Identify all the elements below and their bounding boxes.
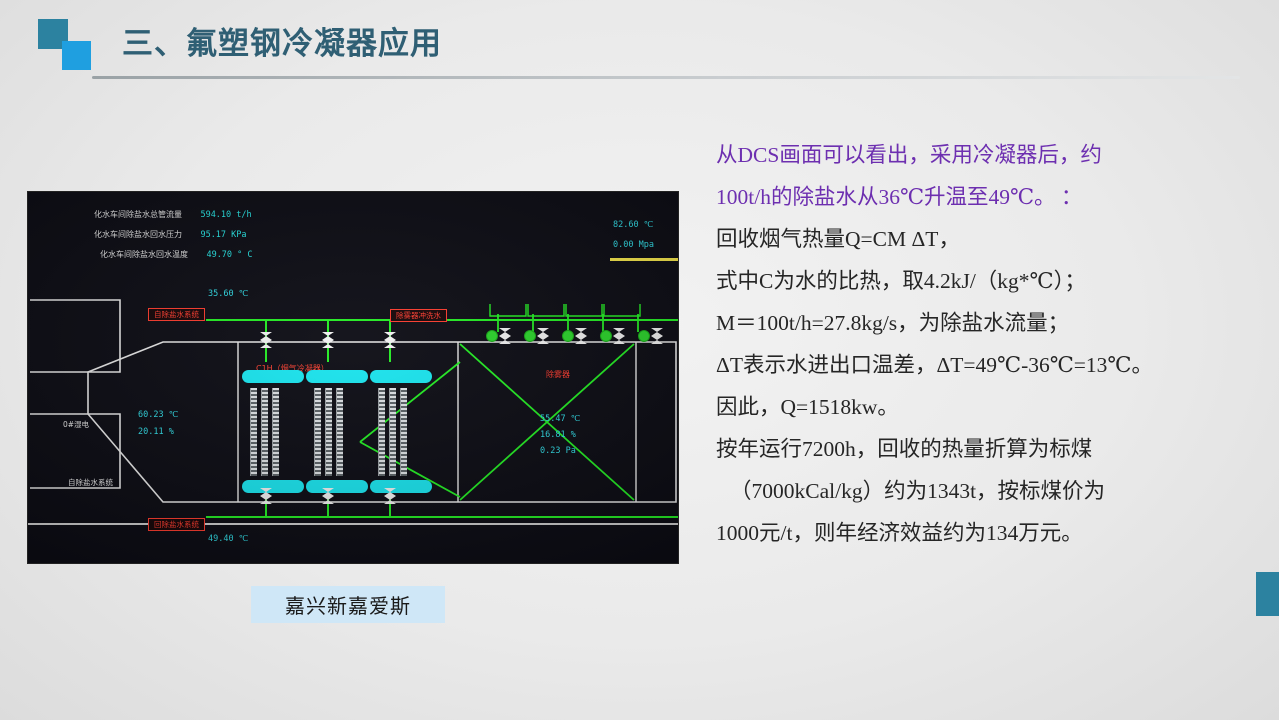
valve-icon bbox=[613, 328, 625, 344]
tube-cap-top-1 bbox=[242, 370, 304, 383]
decoration-square-light bbox=[62, 41, 91, 70]
dcs-readout-value-1: 594.10 t/h bbox=[200, 210, 251, 220]
dcs-screen-photo: 化水车间除盐水总管流量 594.10 t/h 化水车间除盐水回水压力 95.17… bbox=[28, 192, 678, 563]
dcs-readout-label-1: 化水车间除盐水总管流量 bbox=[94, 210, 182, 219]
valve-assembly-5 bbox=[638, 328, 664, 344]
dcs-top-right-value-1: 82.60 ℃ bbox=[613, 220, 653, 230]
photo-caption-box: 嘉兴新嘉爱斯 bbox=[251, 586, 445, 623]
dcs-readout-label-2: 化水车间除盐水回水压力 bbox=[94, 230, 182, 239]
tube-cap-top-2 bbox=[306, 370, 368, 383]
dcs-tag-inlet-label: 自除盐水系统 bbox=[148, 308, 205, 321]
valve-icon-drop-3 bbox=[384, 332, 396, 348]
dcs-readout-label-3: 化水车间除盐水回水温度 bbox=[100, 250, 188, 259]
tube-bank-2 bbox=[314, 388, 360, 476]
dcs-right-value-1: 55.47 ℃ bbox=[540, 414, 580, 424]
valve-indicator-icon bbox=[486, 330, 498, 342]
dcs-tag-inlet: 自除盐水系统 bbox=[148, 304, 205, 322]
dcs-tag-demister-wash-label: 除雾器冲洗水 bbox=[390, 309, 447, 322]
body-line-7: 因此，Q=1518kw。 bbox=[716, 386, 1264, 428]
valve-icon-drop-4 bbox=[260, 488, 272, 504]
dcs-readout-row-2: 化水车间除盐水回水压力 95.17 KPa bbox=[94, 224, 247, 242]
dcs-tag-demister-label: 除雾器 bbox=[546, 370, 570, 379]
dcs-readout-row-3: 化水车间除盐水回水温度 49.70 ° C bbox=[100, 244, 253, 262]
tube-column bbox=[261, 388, 268, 476]
body-line-8: 按年运行7200h，回收的热量折算为标煤 bbox=[716, 428, 1264, 470]
dcs-tag-outlet: 回除盐水系统 bbox=[148, 514, 205, 532]
dcs-top-right-value-2: 0.00 Mpa bbox=[613, 240, 654, 250]
dcs-right-value-2: 16.81 % bbox=[540, 430, 576, 440]
valve-assembly-3 bbox=[562, 328, 588, 344]
dcs-yellow-bar bbox=[610, 258, 678, 261]
tube-column bbox=[314, 388, 321, 476]
body-text-block: 从DCS画面可以看出，采用冷凝器后，约 100t/h的除盐水从36℃升温至49℃… bbox=[716, 134, 1264, 554]
body-line-9: （7000kCal/kg）约为1343t，按标煤价为 bbox=[716, 470, 1264, 512]
dcs-readout-row-1: 化水车间除盐水总管流量 594.10 t/h bbox=[94, 204, 252, 222]
dcs-duct-label-left-1: 0#湿电 bbox=[63, 419, 89, 430]
dcs-left-value-1: 60.23 ℃ bbox=[138, 410, 178, 420]
dcs-tag-outlet-label: 回除盐水系统 bbox=[148, 518, 205, 531]
dcs-inlet-temp: 35.60 ℃ bbox=[208, 289, 248, 299]
valve-icon-drop-5 bbox=[322, 488, 334, 504]
valve-indicator-icon bbox=[600, 330, 612, 342]
valve-icon bbox=[537, 328, 549, 344]
dcs-right-value-3: 0.23 Pa bbox=[540, 446, 576, 456]
dcs-readout-value-3: 49.70 ° C bbox=[206, 250, 252, 260]
tube-column bbox=[250, 388, 257, 476]
tube-column bbox=[336, 388, 343, 476]
valve-icon-drop-1 bbox=[260, 332, 272, 348]
valve-icon bbox=[651, 328, 663, 344]
valve-assembly-1 bbox=[486, 328, 512, 344]
tube-bank-3 bbox=[378, 388, 424, 476]
dcs-outlet-temp: 49.40 ℃ bbox=[208, 534, 248, 544]
right-accent-bar bbox=[1256, 572, 1279, 616]
tube-cap-bottom-3 bbox=[370, 480, 432, 493]
tube-column bbox=[378, 388, 385, 476]
valve-assembly-4 bbox=[600, 328, 626, 344]
body-line-4: 式中C为水的比热，取4.2kJ/（kg*℃）； bbox=[716, 260, 1264, 302]
body-line-6: ΔT表示水进出口温差，ΔT=49℃-36℃=13℃。 bbox=[716, 344, 1264, 386]
tube-column bbox=[389, 388, 396, 476]
valve-icon-drop-6 bbox=[384, 488, 396, 504]
dcs-tag-demister-wash: 除雾器冲洗水 bbox=[390, 305, 447, 323]
tube-cap-top-3 bbox=[370, 370, 432, 383]
header-divider bbox=[92, 76, 1240, 79]
photo-caption-text: 嘉兴新嘉爱斯 bbox=[285, 590, 411, 619]
dcs-readout-value-2: 95.17 KPa bbox=[200, 230, 246, 240]
valve-icon bbox=[499, 328, 511, 344]
body-line-3: 回收烟气热量Q=CM ΔT， bbox=[716, 218, 1264, 260]
body-line-1: 从DCS画面可以看出，采用冷凝器后，约 bbox=[716, 134, 1264, 176]
tube-column bbox=[272, 388, 279, 476]
valve-icon bbox=[575, 328, 587, 344]
dcs-tag-demister: 除雾器 bbox=[546, 364, 570, 382]
tube-column bbox=[400, 388, 407, 476]
body-line-10: 1000元/t，则年经济效益约为134万元。 bbox=[716, 512, 1264, 554]
slide-header: 三、氟塑钢冷凝器应用 bbox=[0, 0, 1279, 92]
valve-indicator-icon bbox=[638, 330, 650, 342]
valve-indicator-icon bbox=[524, 330, 536, 342]
valve-icon-drop-2 bbox=[322, 332, 334, 348]
dcs-left-value-2: 20.11 % bbox=[138, 427, 174, 437]
body-line-2: 100t/h的除盐水从36℃升温至49℃。 ： bbox=[716, 176, 1264, 218]
tube-bank-1 bbox=[250, 388, 296, 476]
valve-assembly-2 bbox=[524, 328, 550, 344]
valve-indicator-icon bbox=[562, 330, 574, 342]
tube-column bbox=[325, 388, 332, 476]
dcs-duct-label-left-2: 自除盐水系统 bbox=[68, 477, 113, 488]
tube-cap-bottom-2 bbox=[306, 480, 368, 493]
body-line-5: M＝100t/h=27.8kg/s，为除盐水流量； bbox=[716, 302, 1264, 344]
tube-cap-bottom-1 bbox=[242, 480, 304, 493]
page-title: 三、氟塑钢冷凝器应用 bbox=[122, 18, 442, 63]
